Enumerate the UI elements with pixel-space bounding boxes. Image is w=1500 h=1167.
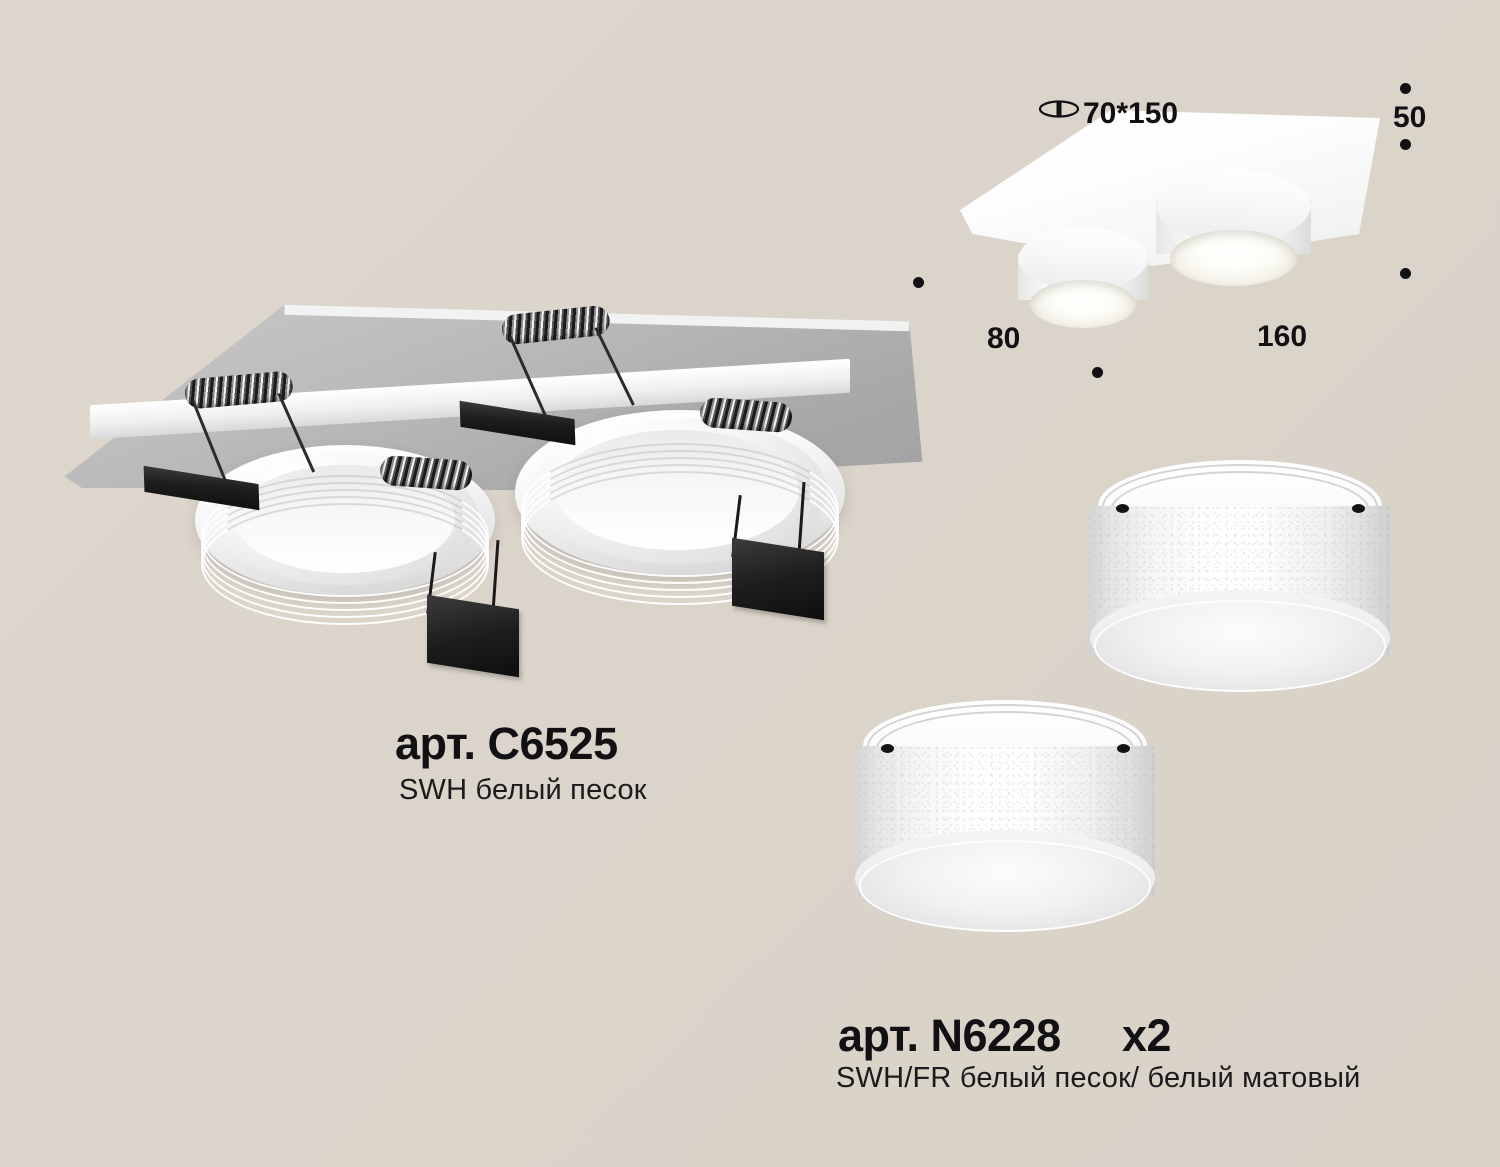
product-quantity-n6228: x2 [1122, 1010, 1171, 1062]
product-finish-n6228: SWH/FR белый песок/ белый матовый [836, 1062, 1361, 1095]
product-image-c6525 [60, 290, 940, 690]
dimension-dot [1400, 268, 1411, 279]
product-image-n6228-upper [1080, 460, 1400, 710]
shade-screw [1117, 744, 1130, 753]
spring-coil [379, 455, 473, 491]
dimension-width-large: 160 [1257, 320, 1307, 354]
dimension-width-small: 80 [987, 322, 1020, 356]
product-image-n6228-lower [845, 700, 1165, 950]
product-finish-c6525: SWH белый песок [399, 774, 647, 807]
dimension-height: 50 [1393, 101, 1426, 135]
preview-lamp-small [1018, 228, 1148, 290]
spring-coil [699, 397, 793, 433]
spring-clip-lower-right [699, 397, 793, 437]
spring-coil [501, 304, 612, 345]
lamp-aperture [1170, 230, 1297, 286]
product-article-c6525: арт. C6525 [395, 718, 618, 770]
shade-diffuser [1094, 600, 1386, 692]
dimension-dot [1400, 83, 1411, 94]
connector-box-left [427, 595, 519, 678]
dimension-cutout: 70*150 [1083, 97, 1178, 131]
shade-screw [1352, 504, 1365, 513]
shade-diffuser [859, 840, 1151, 932]
lamp-aperture [1030, 280, 1136, 328]
preview-lamp-large [1156, 170, 1311, 242]
product-article-n6228: арт. N6228 [838, 1010, 1061, 1062]
shade-screw [881, 744, 894, 753]
assembled-preview-image [960, 110, 1380, 340]
shade-screw [1116, 504, 1129, 513]
hole-symbol-icon [1038, 99, 1080, 119]
dimension-dot [1400, 139, 1411, 150]
dimension-dot [1092, 367, 1103, 378]
product-spec-canvas: арт. C6525 SWH белый песок 70*150 80 160… [0, 0, 1500, 1167]
connector-box-right [732, 538, 824, 621]
dimension-dot [913, 277, 924, 288]
spring-clip-lower-left [379, 455, 473, 495]
